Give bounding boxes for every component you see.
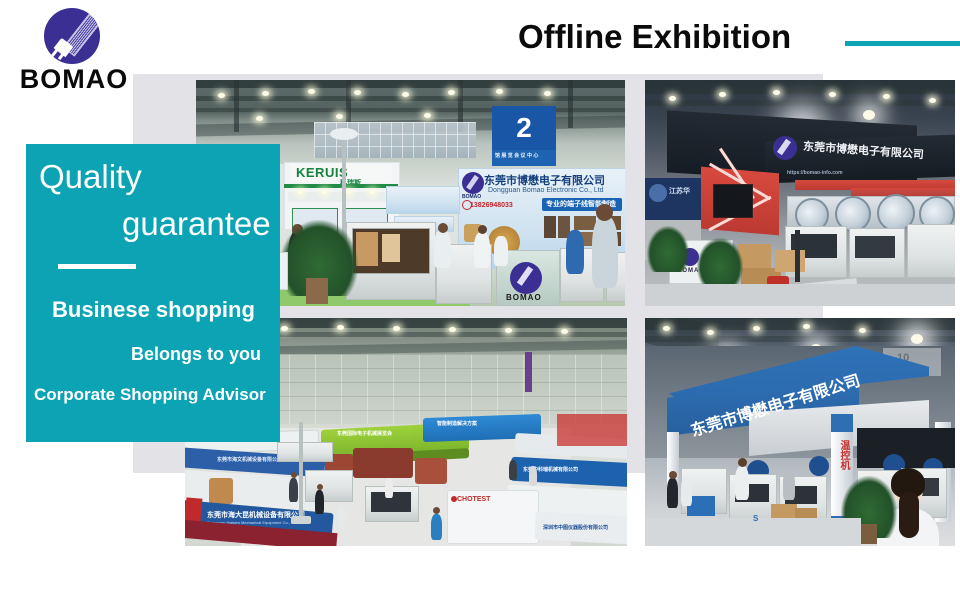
banner-company-cn: 东莞市博懋电子有限公司 xyxy=(484,172,605,188)
hall-number-sign: 2 xyxy=(492,106,556,150)
title-accent-rule xyxy=(845,41,960,46)
pillar-label: 温控机 xyxy=(836,440,851,470)
callout-headline-line2: guarantee xyxy=(122,205,271,243)
bomao-circle-logo-icon xyxy=(44,8,100,64)
callout-headline-line1: Quality xyxy=(39,158,142,196)
callout-divider xyxy=(58,264,136,269)
banner-phone: 13826948033 xyxy=(470,202,513,209)
callout-subline-3: Corporate Shopping Advisor xyxy=(34,385,266,405)
booth-chotest-label: CHOTEST xyxy=(457,496,490,503)
brand-wordmark: BOMAO xyxy=(14,64,134,94)
quality-guarantee-callout: Quality guarantee Businese shopping Belo… xyxy=(26,144,280,442)
photo-blue-canopy-booth: 10 东莞市博懋电子有限公司 温控机 xyxy=(645,318,955,546)
banner-company-en: Dongguan Bomao Electronic Co., Ltd xyxy=(488,187,604,194)
page-title: Offline Exhibition xyxy=(518,18,791,56)
slide-canvas: BOMAO Offline Exhibition xyxy=(0,0,960,596)
brand-logo: BOMAO xyxy=(14,8,134,88)
booth-counter-logo: BOMAO xyxy=(506,293,542,302)
photo-scene: 东莞市博懋电子有限公司 https://bomao-info.com 江苏华 xyxy=(645,80,955,306)
callout-subline-2: Belongs to you xyxy=(131,344,261,365)
photo-dark-booth-red-wall: 东莞市博懋电子有限公司 https://bomao-info.com 江苏华 xyxy=(645,80,955,306)
logo-prong-left xyxy=(51,49,58,57)
photo-scene: 10 东莞市博懋电子有限公司 温控机 xyxy=(645,318,955,546)
callout-subline-1: Businese shopping xyxy=(52,297,255,323)
